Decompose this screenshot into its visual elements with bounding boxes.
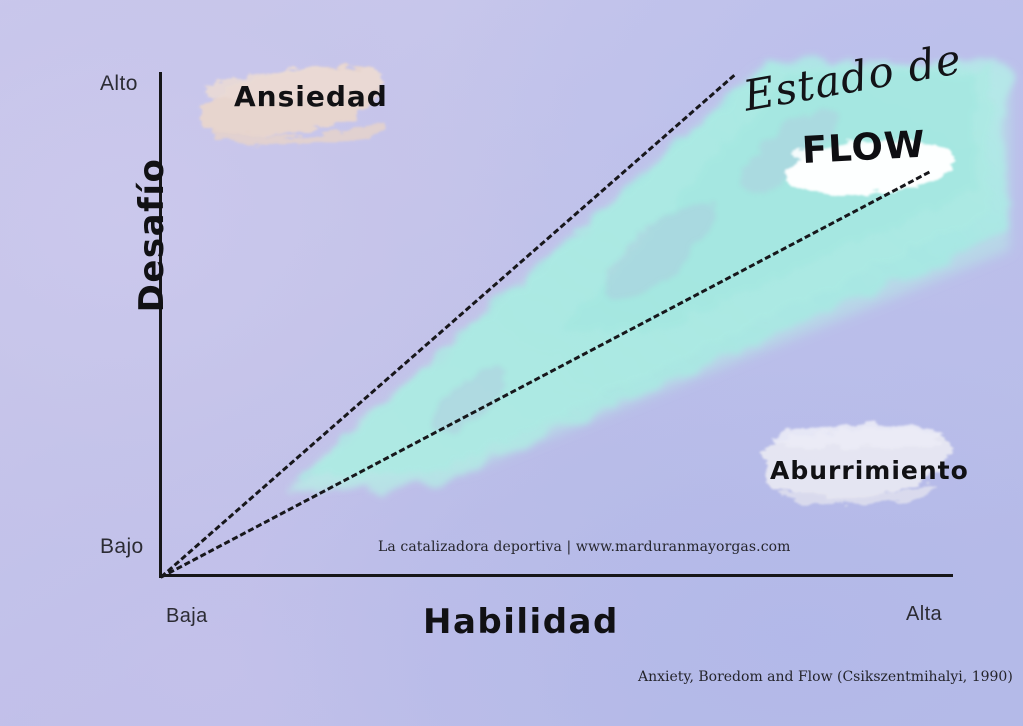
anxiety-zone-label: Ansiedad (196, 52, 392, 144)
y-axis-low-label: Bajo (100, 535, 144, 559)
x-axis-line (159, 574, 953, 577)
x-axis-title: Habilidad (423, 602, 619, 642)
y-axis-title: Desafío (132, 135, 172, 335)
anxiety-label-text: Ansiedad (234, 80, 388, 113)
flow-label-bold-text: FLOW (801, 123, 927, 172)
y-axis-high-label: Alto (100, 72, 138, 96)
flow-diagram-canvas: Alto Bajo Baja Alta Desafío Habilidad An… (0, 0, 1023, 726)
boredom-label-text: Aburrimiento (770, 456, 969, 485)
source-credit: Anxiety, Boredom and Flow (Csikszentmiha… (638, 669, 1013, 685)
upper-channel-dashed-line (160, 74, 735, 578)
lower-channel-dashed-line (160, 171, 930, 579)
flow-zone-label: Estado de FLOW (742, 62, 962, 182)
x-axis-high-label: Alta (906, 603, 942, 626)
x-axis-low-label: Baja (166, 605, 208, 628)
boredom-zone-label: Aburrimiento (752, 428, 958, 508)
footer-attribution: La catalizadora deportiva | www.marduran… (378, 539, 791, 555)
flow-label-script-text: Estado de (740, 34, 966, 121)
